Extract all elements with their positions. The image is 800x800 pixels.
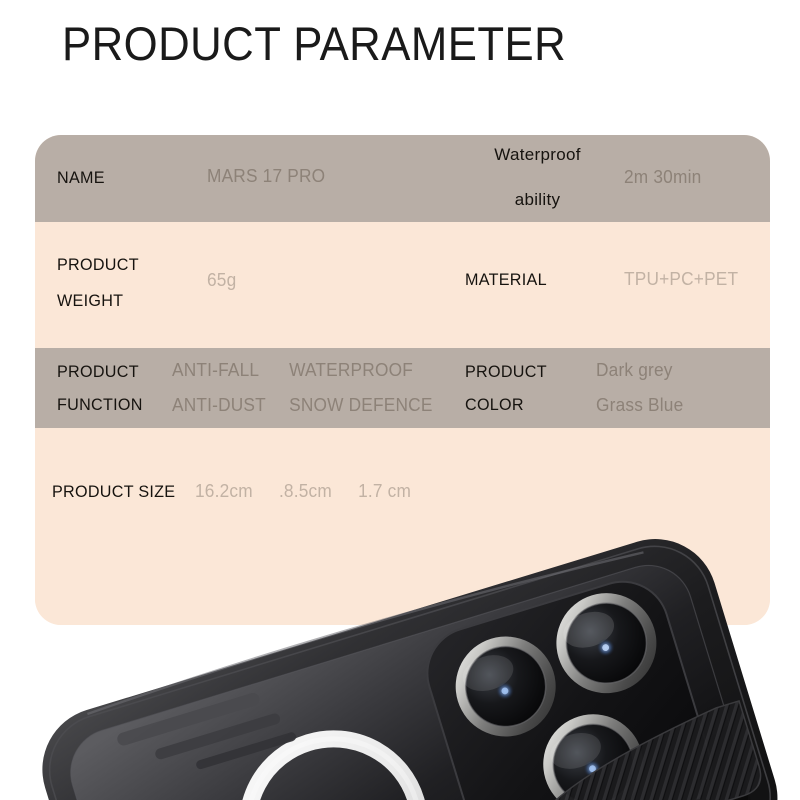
label-function-line1: PRODUCT (57, 360, 143, 383)
value-product-weight: 65g (207, 268, 236, 293)
label-waterproof-ability: Waterproof ability (450, 143, 625, 211)
spec-row-size (35, 428, 770, 625)
page-title: PRODUCT PARAMETER (62, 16, 566, 72)
function-item: ANTI-DUST (172, 393, 289, 418)
label-waterproof-line2: ability (450, 188, 625, 211)
color-option: Grass Blue (596, 393, 683, 418)
function-item: SNOW DEFENCE (289, 393, 432, 418)
size-width: .8.5cm (279, 479, 332, 504)
label-material: MATERIAL (465, 268, 547, 291)
label-weight-line2: WEIGHT (57, 289, 139, 312)
size-height: 1.7 cm (358, 479, 411, 504)
value-product-size: 16.2cm .8.5cm 1.7 cm (195, 479, 411, 504)
label-product-function: PRODUCT FUNCTION (57, 360, 143, 416)
label-waterproof-line1: Waterproof (450, 143, 625, 166)
value-material: TPU+PC+PET (624, 267, 738, 292)
label-color-line2: COLOR (465, 393, 547, 416)
label-weight-line1: PRODUCT (57, 253, 139, 276)
label-product-weight: PRODUCT WEIGHT (57, 253, 139, 312)
function-item: WATERPROOF (289, 358, 432, 383)
value-name: MARS 17 PRO (207, 164, 325, 189)
value-waterproof-ability: 2m 30min (624, 165, 701, 190)
color-option: Dark grey (596, 358, 683, 383)
label-function-line2: FUNCTION (57, 393, 143, 416)
label-name: NAME (57, 166, 105, 189)
size-length: 16.2cm (195, 479, 253, 504)
value-product-color-list: Dark grey Grass Blue (596, 358, 683, 418)
label-product-size: PRODUCT SIZE (52, 480, 175, 503)
label-color-line1: PRODUCT (465, 360, 547, 383)
label-product-color: PRODUCT COLOR (465, 360, 547, 416)
value-product-function-list: ANTI-FALL WATERPROOF ANTI-DUST SNOW DEFE… (172, 358, 433, 418)
spec-table-panel: NAME MARS 17 PRO Waterproof ability 2m 3… (35, 135, 770, 625)
product-parameter-page: PRODUCT PARAMETER NAME MARS 17 PRO Water… (0, 0, 800, 800)
function-item: ANTI-FALL (172, 358, 289, 383)
